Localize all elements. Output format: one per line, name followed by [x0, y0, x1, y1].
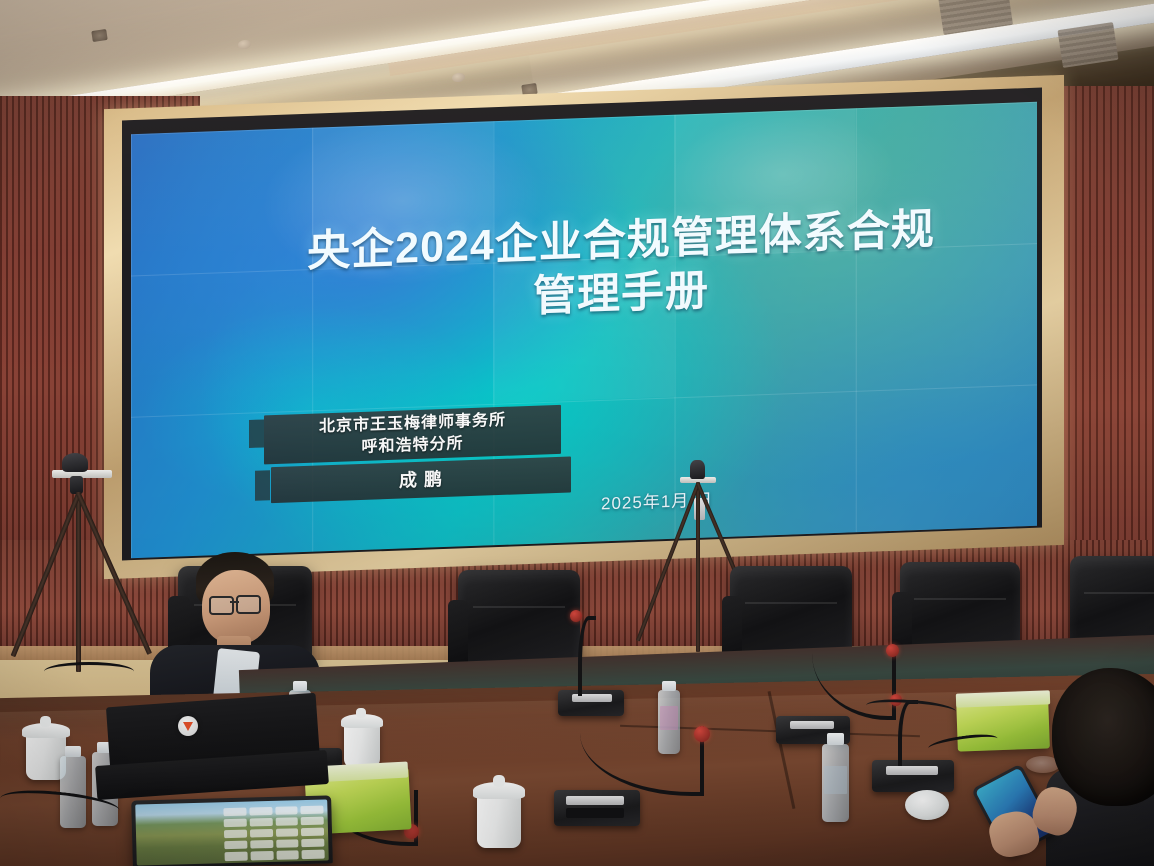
microphone-2-head [694, 726, 710, 742]
microphone-3-panel [790, 721, 834, 729]
microphone-2-screen [566, 808, 624, 818]
slide-title: 央企2024企业合规管理体系合规 管理手册 [241, 201, 1001, 335]
water-bottle-1-cap [662, 681, 676, 691]
laptop-presenter-logo [178, 716, 198, 736]
water-bottle-5-cap [827, 733, 844, 745]
presenter-glasses-bridge [230, 601, 239, 603]
water-bottle-3-cap [65, 746, 81, 757]
tea-cup-1-knob [356, 708, 366, 718]
subbox-tab-1 [249, 419, 264, 448]
tripod-left-camera [62, 453, 88, 472]
downlight-1 [91, 29, 107, 42]
microphone-1-gooseneck [578, 616, 596, 696]
slide-presenter-box: 成 鹏 [271, 456, 571, 503]
presenter-glasses-right-lens [236, 595, 261, 614]
tea-cup-2-body [477, 792, 521, 848]
slide-organization-box: 北京市王玉梅律师事务所 呼和浩特分所 [264, 405, 561, 465]
person-with-phone-hair [1052, 668, 1154, 806]
tripod-center-camera [690, 460, 705, 479]
saucer-plate[interactable] [905, 790, 949, 820]
microphone-2-panel-top [566, 796, 624, 805]
conference-room-scene: 央企2024企业合规管理体系合规 管理手册 北京市王玉梅律师事务所 呼和浩特分所… [0, 0, 1154, 866]
tripod-left-leg-center [76, 492, 81, 672]
water-bottle-1-label [660, 706, 678, 730]
microphone-4-panel [886, 766, 938, 775]
laptop-foreground-screen [131, 795, 333, 866]
presenter-glasses-left-lens [209, 596, 234, 615]
microphone-3-head [886, 644, 899, 657]
tea-cup-3-knob [40, 716, 51, 727]
tripod-left-cable [44, 662, 134, 681]
subbox-tab-2 [255, 470, 270, 501]
tripod-center-leg-center [696, 482, 700, 652]
microphone-1-head [570, 610, 582, 622]
laptop-foreground-desktop-icons[interactable] [223, 805, 324, 861]
tea-cup-1-body [344, 722, 380, 768]
chair-2-wing [448, 600, 468, 670]
water-bottle-5-label [824, 766, 847, 794]
water-bottle-2-cap [293, 681, 307, 691]
ceiling-vent-2 [1057, 22, 1118, 68]
led-video-wall[interactable]: 央企2024企业合规管理体系合规 管理手册 北京市王玉梅律师事务所 呼和浩特分所… [131, 102, 1037, 558]
tea-cup-2-knob [493, 775, 505, 787]
